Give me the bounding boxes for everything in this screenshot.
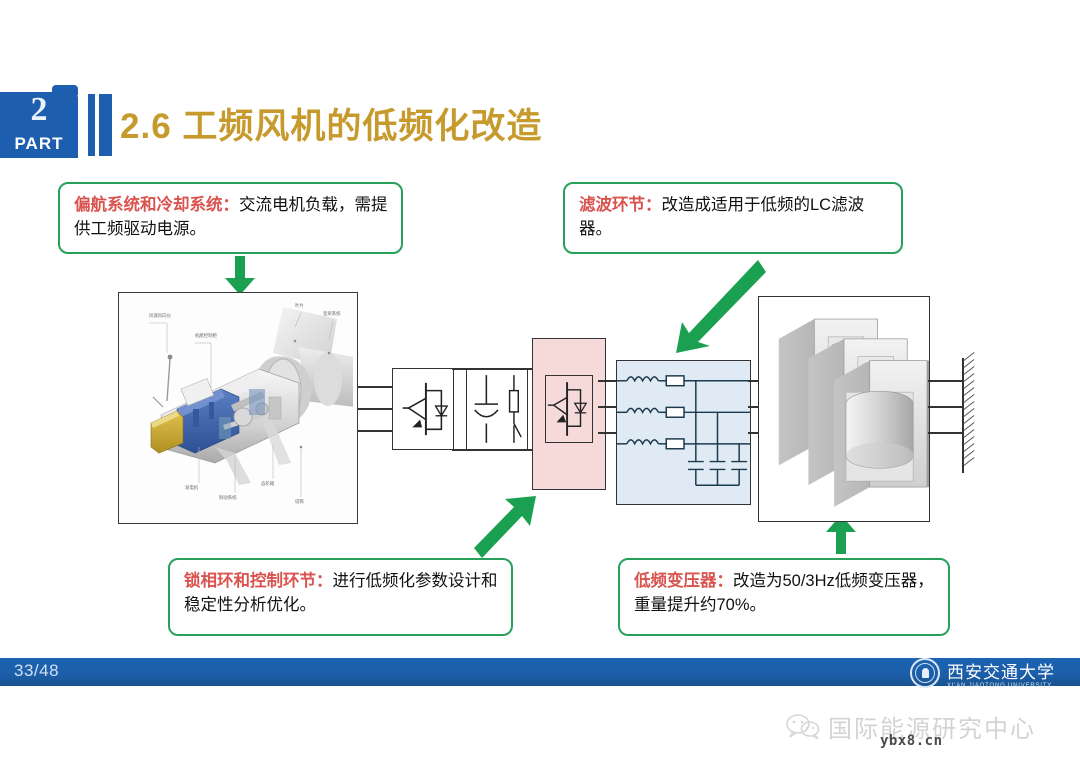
wire-gen-a bbox=[358, 386, 392, 388]
dc-capacitor-chopper-symbol bbox=[467, 369, 527, 449]
university-name-en: XI'AN JIAOTONG UNIVERSITY bbox=[947, 683, 1055, 689]
three-phase-transformer-illustration bbox=[759, 297, 929, 521]
lc-filter-block bbox=[616, 360, 751, 505]
university-logo: 西安交通大学 XI'AN JIAOTONG UNIVERSITY bbox=[910, 652, 1080, 694]
igbt-rectifier-symbol bbox=[393, 369, 453, 449]
callout-filter-keyword: 滤波环节： bbox=[579, 196, 662, 214]
rectifier-block bbox=[392, 368, 454, 450]
nacelle-label-pitch-system: 变桨系统 bbox=[323, 311, 341, 317]
callout-low-freq-transformer: 低频变压器：改造为50/3Hz低频变压器，重量提升约70%。 bbox=[618, 558, 950, 636]
university-logo-text: 西安交通大学 XI'AN JIAOTONG UNIVERSITY bbox=[947, 658, 1055, 689]
wechat-bubbles-glyph bbox=[786, 713, 820, 739]
wire-gen-b bbox=[358, 408, 392, 410]
wire-grid-b bbox=[928, 406, 964, 408]
arrow-pll-diagonal-icon bbox=[470, 492, 550, 568]
university-seal-icon bbox=[910, 658, 940, 688]
nacelle-label-anemometer: 风速风向仪 bbox=[149, 313, 171, 319]
nacelle-label-brake: 制动系统 bbox=[219, 495, 237, 501]
callout-transformer-keyword: 低频变压器： bbox=[634, 572, 733, 590]
callout-pll-control: 锁相环和控制环节：进行低频化参数设计和稳定性分析优化。 bbox=[168, 558, 513, 636]
nacelle-label-blade: 叶片 bbox=[295, 303, 304, 309]
dc-rail-negative bbox=[452, 449, 536, 451]
slide-canvas: 2 PART 2.6 工频风机的低频化改造 偏航系统和冷却系统：交流电机负载，需… bbox=[0, 0, 1080, 764]
wire-gen-c bbox=[358, 430, 392, 432]
part-number: 2 bbox=[0, 90, 78, 130]
university-name-cn: 西安交通大学 bbox=[947, 658, 1055, 683]
dc-link-block bbox=[466, 368, 528, 450]
nacelle-cutaway-drawing bbox=[123, 297, 353, 519]
wire-grid-c bbox=[928, 432, 964, 434]
watermark-url: ybx8.cn bbox=[880, 733, 943, 749]
seal-bell-glyph bbox=[922, 668, 929, 678]
lc-filter-symbol bbox=[617, 361, 750, 504]
callout-yaw-system: 偏航系统和冷却系统：交流电机负载，需提供工频驱动电源。 bbox=[58, 182, 403, 254]
part-word: PART bbox=[0, 134, 78, 154]
arrow-filter-diagonal-icon bbox=[662, 254, 772, 359]
nacelle-label-tower: 塔筒 bbox=[295, 499, 304, 505]
nacelle-label-cabinet: 机舱控制柜 bbox=[195, 333, 217, 339]
nacelle-label-gearbox: 齿轮箱 bbox=[261, 481, 274, 487]
title-accent-bar-2 bbox=[99, 94, 112, 156]
nacelle-image-frame: 风速风向仪 机舱控制柜 叶片 变桨系统 发电机 制动系统 齿轮箱 塔筒 bbox=[118, 292, 358, 524]
title-accent-bar-1 bbox=[88, 94, 95, 156]
nacelle-illustration: 风速风向仪 机舱控制柜 叶片 变桨系统 发电机 制动系统 齿轮箱 塔筒 bbox=[123, 297, 353, 519]
wire-grid-a bbox=[928, 380, 964, 382]
nacelle-label-generator: 发电机 bbox=[185, 485, 198, 491]
page-title: 2.6 工频风机的低频化改造 bbox=[120, 98, 542, 149]
callout-filter-stage: 滤波环节：改造成适用于低频的LC滤波器。 bbox=[563, 182, 903, 254]
callout-pll-keyword: 锁相环和控制环节： bbox=[184, 572, 333, 590]
page-number: 33/48 bbox=[14, 661, 59, 681]
callout-yaw-keyword: 偏航系统和冷却系统： bbox=[74, 196, 239, 214]
wechat-icon bbox=[786, 713, 820, 739]
part-badge: 2 PART bbox=[0, 92, 78, 158]
igbt-inverter-symbol bbox=[546, 376, 592, 442]
inverter-igbt-frame bbox=[545, 375, 593, 443]
dc-rail-positive bbox=[452, 368, 536, 370]
transformer-block bbox=[758, 296, 930, 522]
